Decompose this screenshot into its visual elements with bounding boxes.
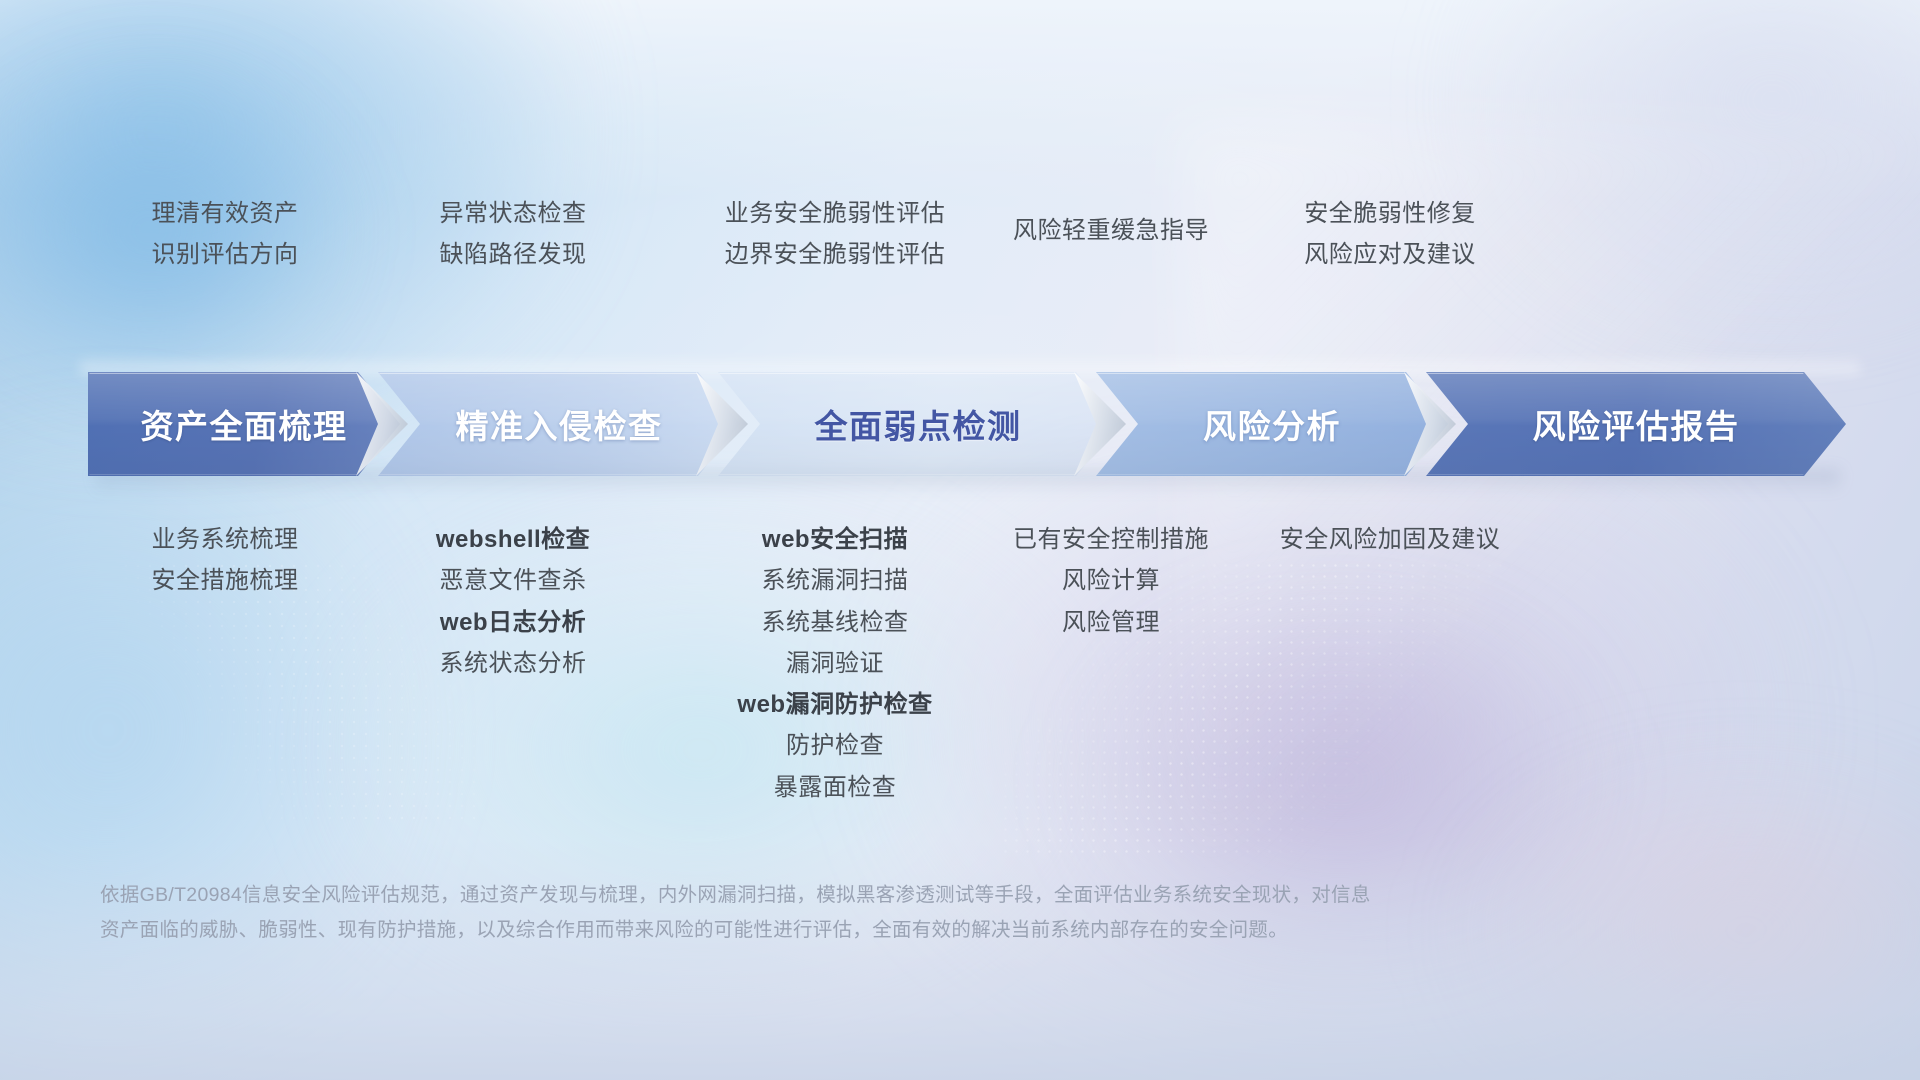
stage-5-activities: 安全风险加固及建议 [1195, 519, 1585, 560]
stage-5-outcome-1: 安全脆弱性修复 [1195, 193, 1585, 234]
footer-line-1: 依据GB/T20984信息安全风险评估规范，通过资产发现与梳理，内外网漏洞扫描，… [100, 878, 1630, 913]
stage-3-activity-7: 暴露面检查 [640, 767, 1030, 808]
stage-chevron-3-label: 全面弱点检测 [815, 400, 1022, 448]
stage-chevron-2-label: 精准入侵检查 [456, 400, 663, 448]
process-diagram: 理清有效资产 识别评估方向 异常状态检查 缺陷路径发现 业务安全脆弱性评估 边界… [0, 0, 1920, 1080]
stage-1-activities: 业务系统梳理 安全措施梳理 [60, 519, 390, 602]
stage-3-activity-4: 漏洞验证 [640, 643, 1030, 684]
stage-2-outcome-2: 缺陷路径发现 [348, 234, 678, 275]
stage-1-activity-2: 安全措施梳理 [60, 560, 390, 601]
stage-2-activity-2: 恶意文件查杀 [348, 560, 678, 601]
stage-1-outcome-1: 理清有效资产 [60, 193, 390, 234]
stage-2-activity-1: webshell检查 [348, 519, 678, 560]
stage-4-activity-2: 风险计算 [916, 560, 1306, 601]
stage-1-activity-1: 业务系统梳理 [60, 519, 390, 560]
stage-5-outcome-2: 风险应对及建议 [1195, 234, 1585, 275]
stage-1-outcome-2: 识别评估方向 [60, 234, 390, 275]
stage-chevron-5[interactable]: 风险评估报告 [1426, 372, 1846, 476]
stage-2-activity-3: web日志分析 [348, 602, 678, 643]
stage-5-outcomes: 安全脆弱性修复 风险应对及建议 [1195, 193, 1585, 276]
stage-chevron-3[interactable]: 全面弱点检测 [718, 372, 1118, 476]
footer-line-2: 资产面临的威胁、脆弱性、现有防护措施，以及综合作用而带来风险的可能性进行评估，全… [100, 913, 1630, 948]
stage-2-outcomes: 异常状态检查 缺陷路径发现 [348, 193, 678, 276]
stage-2-activities: webshell检查 恶意文件查杀 web日志分析 系统状态分析 [348, 519, 678, 684]
stage-1-outcomes: 理清有效资产 识别评估方向 [60, 193, 390, 276]
stage-4-activity-3: 风险管理 [916, 602, 1306, 643]
stage-chevron-5-label: 风险评估报告 [1533, 400, 1740, 448]
stage-5-activity-1: 安全风险加固及建议 [1195, 519, 1585, 560]
stage-banner: 资产全面梳理 精准入侵检查 全面弱点检测 风险分析 风险评估报告 [88, 372, 1846, 476]
stage-3-activity-5: web漏洞防护检查 [640, 684, 1030, 725]
stage-chevron-1[interactable]: 资产全面梳理 [88, 372, 400, 476]
stage-3-activity-6: 防护检查 [640, 725, 1030, 766]
stage-chevron-2[interactable]: 精准入侵检查 [378, 372, 740, 476]
stage-chevron-1-label: 资产全面梳理 [141, 400, 348, 448]
stage-chevron-4[interactable]: 风险分析 [1096, 372, 1448, 476]
stage-2-outcome-1: 异常状态检查 [348, 193, 678, 234]
footer-description: 依据GB/T20984信息安全风险评估规范，通过资产发现与梳理，内外网漏洞扫描，… [100, 878, 1630, 947]
stage-chevron-4-label: 风险分析 [1203, 400, 1341, 448]
stage-2-activity-4: 系统状态分析 [348, 643, 678, 684]
